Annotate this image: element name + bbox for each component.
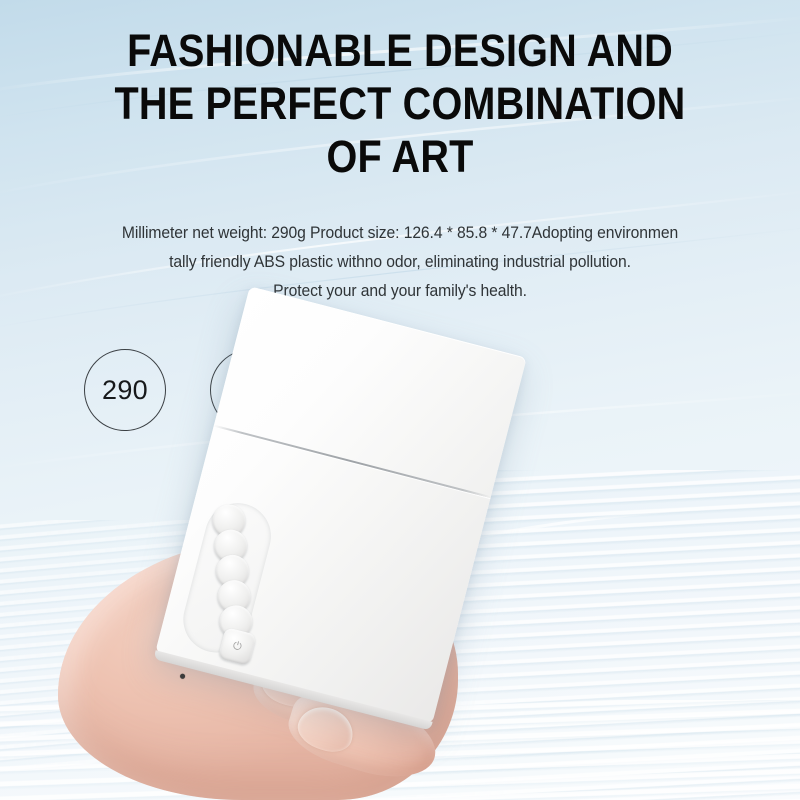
power-icon: ⏻ — [231, 639, 243, 654]
product-description: Millimeter net weight: 290g Product size… — [58, 219, 742, 306]
product-feature-banner: FASHIONABLE DESIGN AND THE PERFECT COMBI… — [0, 0, 800, 800]
product-photo: ⏻ — [0, 310, 800, 800]
page-title: FASHIONABLE DESIGN AND THE PERFECT COMBI… — [48, 24, 752, 183]
